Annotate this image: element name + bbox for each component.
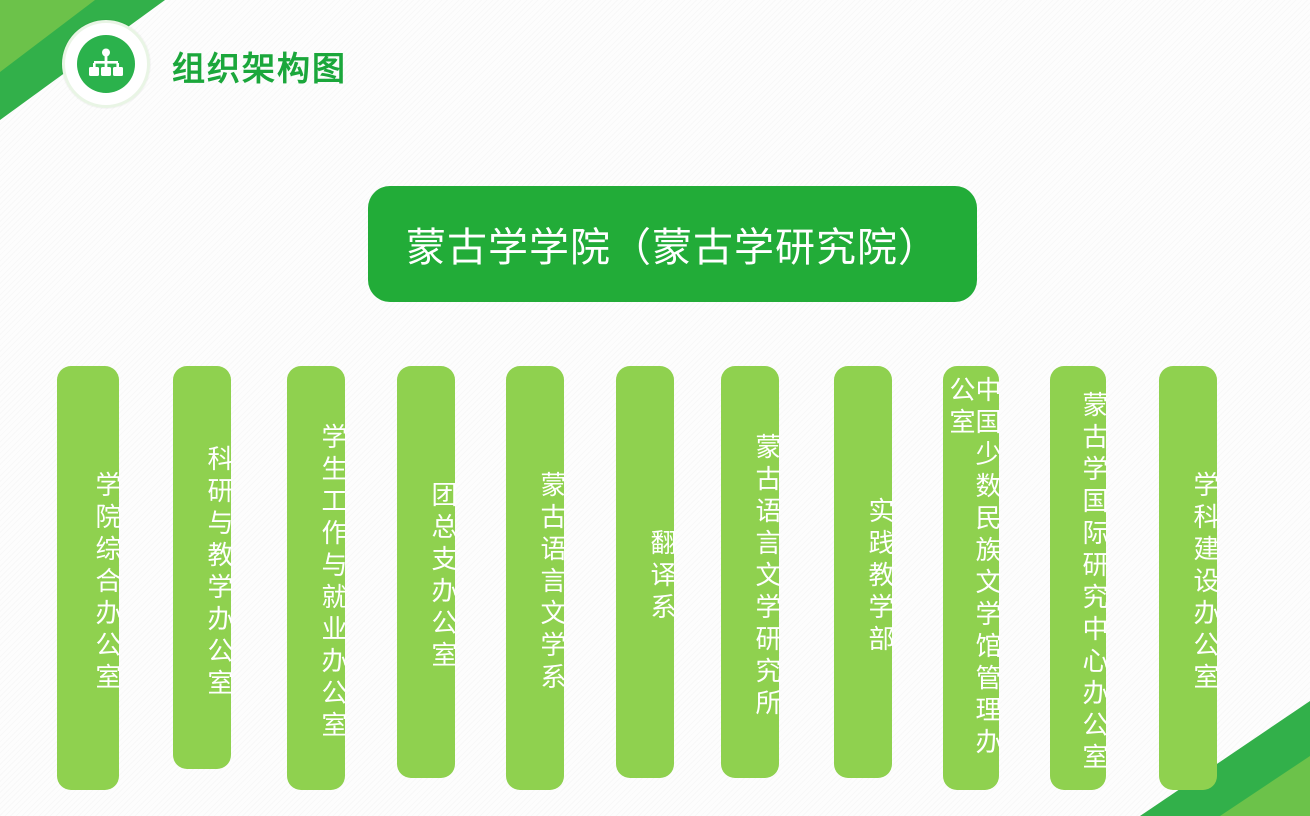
org-root-label: 蒙古学学院（蒙古学研究院） [406, 215, 939, 273]
slide-canvas: 组织架构图 蒙古学学院（蒙古学研究院） 学院综合办公室科研与教学办公室学生工作与… [0, 0, 1310, 816]
org-leaf-label: 学科建设办公室 [1191, 471, 1217, 695]
org-leaf-label: 蒙古语言文学系 [538, 471, 564, 695]
org-leaf-label: 中国少数民族文学馆管理办公室 [947, 376, 999, 790]
org-leaf-node[interactable]: 翻译系 [616, 366, 674, 778]
org-leaf-node[interactable]: 学院综合办公室 [57, 366, 119, 790]
org-root-node[interactable]: 蒙古学学院（蒙古学研究院） [368, 186, 977, 302]
org-leaf-label: 实践教学部 [866, 497, 892, 657]
org-leaf-label: 学院综合办公室 [93, 471, 119, 695]
org-leaf-node[interactable]: 中国少数民族文学馆管理办公室 [943, 366, 999, 790]
org-leaf-node[interactable]: 蒙古学国际研究中心办公室 [1050, 366, 1106, 790]
org-leaf-label: 科研与教学办公室 [205, 445, 231, 701]
org-leaf-node[interactable]: 学生工作与就业办公室 [287, 366, 345, 790]
org-leaf-label: 团总支办公室 [429, 481, 455, 673]
page-title: 组织架构图 [172, 42, 347, 90]
org-leaf-label: 翻译系 [648, 529, 674, 625]
org-leaf-node[interactable]: 蒙古语言文学系 [506, 366, 564, 790]
org-leaf-node[interactable]: 蒙古语言文学研究所 [721, 366, 779, 778]
organization-chart-logo [62, 20, 150, 108]
org-leaf-node[interactable]: 团总支办公室 [397, 366, 455, 778]
org-leaf-label: 蒙古语言文学研究所 [753, 433, 779, 721]
organization-chart-icon [77, 35, 135, 93]
org-leaf-node[interactable]: 学科建设办公室 [1159, 366, 1217, 790]
org-leaf-node[interactable]: 科研与教学办公室 [173, 366, 231, 769]
org-leaf-row: 学院综合办公室科研与教学办公室学生工作与就业办公室团总支办公室蒙古语言文学系翻译… [0, 366, 1310, 790]
org-leaf-label: 学生工作与就业办公室 [319, 423, 345, 743]
org-leaf-node[interactable]: 实践教学部 [834, 366, 892, 778]
org-leaf-label: 蒙古学国际研究中心办公室 [1080, 391, 1106, 775]
